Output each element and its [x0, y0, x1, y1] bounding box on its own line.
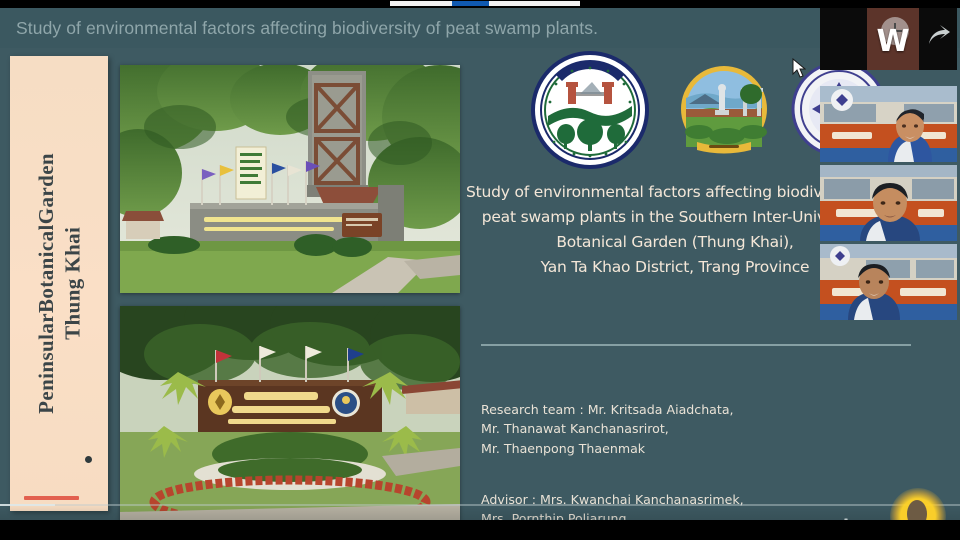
share-icon [926, 22, 952, 48]
side-panel-dot [85, 456, 92, 463]
credits-spacer [481, 458, 901, 470]
mouse-cursor [792, 58, 806, 78]
cursor-icon [792, 58, 806, 78]
watch-later-button[interactable]: W [867, 8, 919, 70]
screen-bottom-bezel [0, 520, 960, 540]
side-panel-label: PeninsularBotanicalGarden Thung Khai [33, 153, 86, 414]
participant-1[interactable] [820, 86, 957, 162]
video-surface[interactable]: Study of environmental factors affecting… [0, 8, 960, 520]
video-player-stage: Study of environmental factors affecting… [0, 0, 960, 540]
participant-2[interactable] [820, 165, 957, 241]
page-scroll-strip[interactable] [0, 0, 960, 8]
video-progress-fill [0, 504, 55, 506]
presentation-slide: Study of environmental factors affecting… [0, 8, 960, 520]
video-overlay-actions: W [820, 8, 957, 70]
thung-khai-garden-sign-photo [120, 306, 460, 520]
video-progress-bar[interactable] [0, 504, 960, 506]
slide-overlay-title: Study of environmental factors affecting… [0, 8, 960, 48]
scroll-thumb[interactable] [452, 1, 489, 6]
scroll-track[interactable] [390, 1, 580, 6]
slide-credits: Research team : Mr. Kritsada Aiadchata, … [481, 380, 901, 520]
watch-later-w-mark: W [876, 27, 909, 57]
side-panel-text-wrap: PeninsularBotanicalGarden Thung Khai [10, 56, 108, 511]
slide-divider [481, 344, 911, 346]
share-button[interactable] [926, 22, 952, 48]
slide-side-panel: PeninsularBotanicalGarden Thung Khai [10, 56, 108, 511]
botanical-garden-entrance-tower-photo [120, 65, 460, 293]
player-control-bar[interactable]: 0:18 / 5:13 Scroll for details CC [0, 504, 960, 520]
side-panel-accent-bar [24, 496, 79, 500]
thung-khai-botanical-garden-seal [530, 50, 650, 170]
trang-province-seal [675, 60, 773, 158]
participant-3[interactable] [820, 244, 957, 320]
credits-research-team: Research team : Mr. Kritsada Aiadchata, … [481, 402, 734, 456]
